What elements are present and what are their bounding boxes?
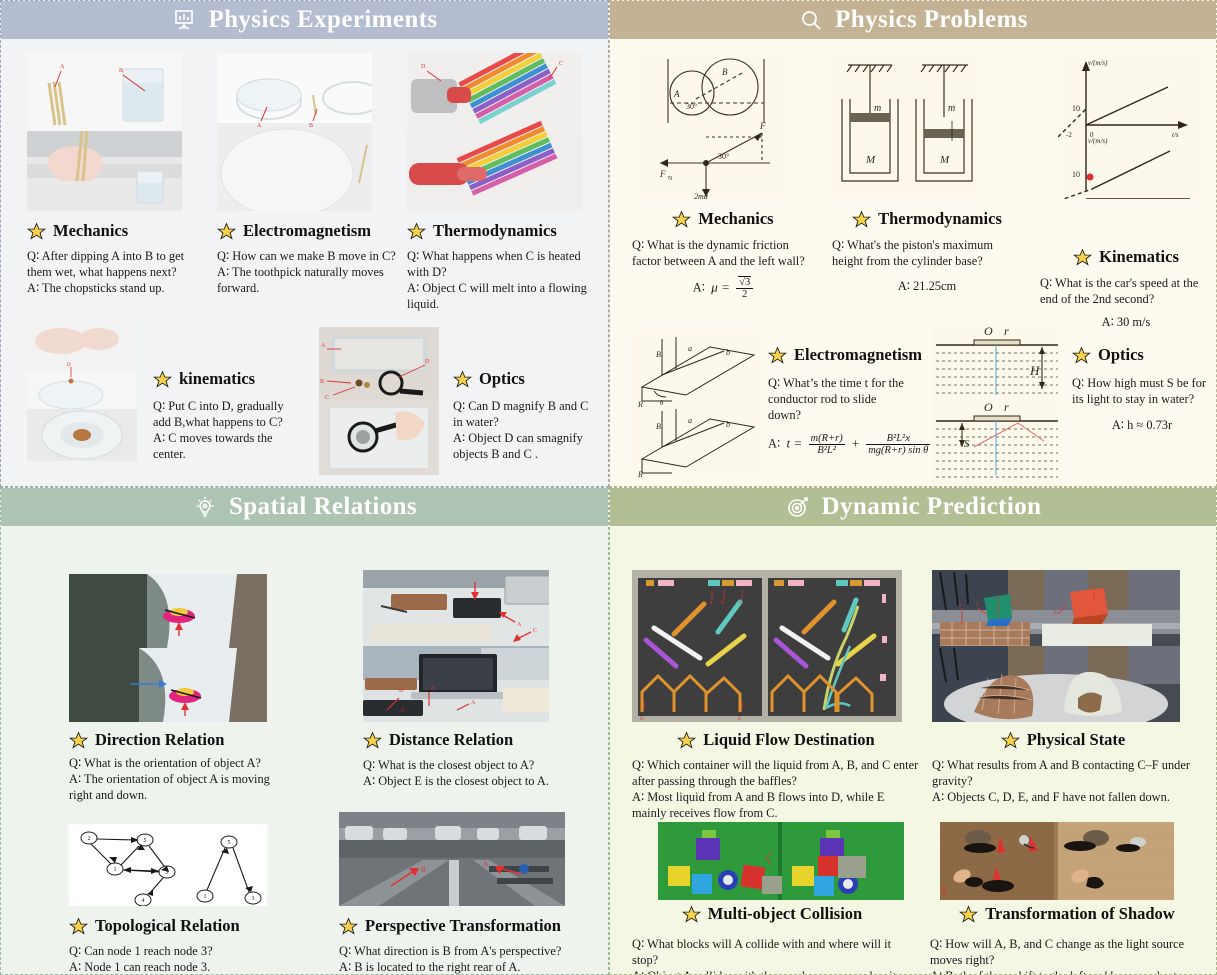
answer-text: A∶ Most liquid from A and B flows into D… — [632, 789, 920, 821]
svg-text:A: A — [60, 64, 65, 70]
card-title-text: Optics — [1098, 345, 1144, 365]
question-text: Q∶ How can we make B move in C? — [217, 248, 397, 264]
question-text: Q∶ What’s the time t for the conductor r… — [768, 375, 908, 423]
card-direction-relation: Direction Relation Q∶ What is the orient… — [69, 730, 279, 803]
svg-text:r: r — [1004, 324, 1009, 338]
svg-text:a: a — [688, 416, 692, 425]
svg-text:A: A — [517, 622, 522, 628]
card-multi-object-collision: Multi-object Collision Q∶ What blocks wi… — [632, 904, 912, 975]
card-perspective-transformation: Perspective Transformation Q∶ What direc… — [339, 916, 607, 975]
card-title: Physical State — [932, 730, 1194, 750]
answer-prefix: A∶ — [693, 281, 705, 295]
svg-text:30°: 30° — [686, 102, 697, 111]
star-icon — [682, 905, 701, 924]
svg-text:B: B — [722, 67, 728, 77]
star-icon — [677, 731, 696, 750]
card-title-text: Distance Relation — [389, 730, 513, 750]
question-text: Q∶ What happens when C is heated with D? — [407, 248, 587, 280]
quadrant-dynamic-prediction: Dynamic Prediction — [609, 487, 1217, 975]
quadrant-body: A C B C — [1, 526, 608, 974]
card-title: Mechanics — [27, 221, 203, 241]
card-title: Perspective Transformation — [339, 916, 607, 936]
svg-text:2: 2 — [88, 836, 91, 842]
star-icon — [339, 917, 358, 936]
svg-text:M: M — [939, 154, 950, 166]
lightbulb-idea-icon — [192, 494, 218, 520]
question-text: Q∶ What is the dynamic friction factor b… — [632, 237, 814, 269]
objects-shadow-photo: A — [940, 822, 1174, 900]
svg-text:1: 1 — [204, 894, 207, 900]
svg-text:10: 10 — [1072, 170, 1080, 179]
svg-text:F: F — [1092, 587, 1095, 592]
card-title-text: Mechanics — [53, 221, 128, 241]
svg-text:D: D — [996, 597, 1000, 602]
card-title-text: Electromagnetism — [794, 345, 922, 365]
answer-text: A∶ 30 m/s — [1102, 315, 1151, 329]
card-title-text: Physical State — [1027, 730, 1126, 750]
card-title-text: Direction Relation — [95, 730, 224, 750]
svg-text:O: O — [984, 324, 993, 338]
card-title: Mechanics — [632, 209, 814, 229]
piston-cylinder-diagram: m m M M — [826, 51, 982, 199]
fraction-term-1: m(R+r)B²L² — [809, 433, 845, 456]
answer-text: A∶ h ≈ 0.73r — [1112, 418, 1172, 432]
card-optics: Optics Q∶ Can D magnify B and C in water… — [453, 369, 593, 463]
answer-text: A∶ The toothpick naturally moves forward… — [217, 264, 397, 296]
svg-text:E: E — [1054, 611, 1057, 616]
question-text: Q∶ What is the orientation of object A? — [69, 755, 279, 771]
kayak-in-rapids-photo — [69, 574, 267, 722]
svg-text:3: 3 — [166, 870, 169, 876]
light-source-under-water-diagram: H O r S O r — [932, 323, 1062, 485]
card-optics: Optics Q∶ How high must S be for its lig… — [1072, 345, 1212, 433]
card-title-text: Topological Relation — [95, 916, 240, 936]
answer-formula: A∶ μ = √3 2 — [632, 277, 814, 300]
star-icon — [453, 370, 472, 389]
card-title-text: Electromagnetism — [243, 221, 371, 241]
card-distance-relation: Distance Relation Q∶ What is the closest… — [363, 730, 599, 789]
question-text: Q∶ How high must S be for its light to s… — [1072, 375, 1212, 407]
svg-text:-2: -2 — [1066, 131, 1072, 139]
svg-text:D: D — [425, 359, 430, 365]
banner-physics-problems: Physics Problems — [610, 1, 1216, 39]
card-kinematics: Kinematics Q∶ What is the car's speed at… — [1040, 247, 1212, 330]
svg-text:m: m — [948, 103, 955, 114]
svg-text:A: A — [709, 601, 713, 606]
svg-text:B: B — [119, 68, 123, 74]
banner-title: Dynamic Prediction — [822, 493, 1042, 521]
svg-text:b: b — [726, 348, 730, 357]
question-text: Q∶ What blocks will A collide with and w… — [632, 936, 912, 968]
svg-text:S: S — [964, 438, 970, 450]
svg-text:R: R — [637, 400, 643, 409]
question-text: Q∶ What results from A and B contacting … — [932, 757, 1194, 789]
card-title: Direction Relation — [69, 730, 279, 750]
card-title-text: Thermodynamics — [433, 221, 557, 241]
banner-title: Spatial Relations — [229, 493, 417, 521]
svg-text:C: C — [559, 61, 563, 67]
star-icon — [959, 905, 978, 924]
velocity-time-graph-diagram: v/(m/s) v/(m/s) 10 10 -2 0 t/s — [1058, 51, 1206, 199]
svg-text:D: D — [421, 64, 426, 70]
fraction-sqrt3-over-2: √3 2 — [736, 277, 753, 300]
answer-text: A∶ Both of them shift to the left and be… — [930, 968, 1204, 975]
svg-text:B: B — [399, 688, 403, 694]
star-icon — [672, 210, 691, 229]
svg-text:A: A — [321, 343, 326, 349]
svg-text:R: R — [637, 470, 643, 477]
star-icon — [69, 917, 88, 936]
quadrant-physics-problems: Physics Problems A B 30° — [609, 0, 1217, 487]
star-icon — [153, 370, 172, 389]
svg-text:B: B — [656, 350, 661, 359]
banner-title: Physics Problems — [835, 6, 1028, 34]
question-text: Q∶ What is the car's speed at the end of… — [1040, 275, 1212, 307]
card-title: Optics — [453, 369, 593, 389]
svg-text:30°: 30° — [718, 152, 729, 161]
svg-text:A: A — [673, 89, 680, 99]
card-kinematics: kinematics Q∶ Put C into D, gradually ad… — [153, 369, 303, 463]
answer-text: A∶ The chopsticks stand up. — [27, 280, 203, 296]
magnifier-in-water-tray-photo: A B C D — [319, 327, 439, 475]
svg-text:C: C — [401, 708, 405, 714]
card-title: Thermodynamics — [832, 209, 1022, 229]
svg-text:0: 0 — [1090, 131, 1094, 139]
crayons-melting-photo: D C — [407, 53, 582, 211]
card-title: Thermodynamics — [407, 221, 587, 241]
svg-text:4: 4 — [142, 898, 145, 904]
cloth-draping-simulation: A C D E F — [932, 570, 1180, 722]
card-physical-state: Physical State Q∶ What results from A an… — [932, 730, 1194, 805]
svg-text:10: 10 — [1072, 104, 1080, 113]
card-title-text: Kinematics — [1099, 247, 1179, 267]
card-title-text: Optics — [479, 369, 525, 389]
card-title: kinematics — [153, 369, 303, 389]
question-text: Q∶ Put C into D, gradually add B,what ha… — [153, 398, 303, 430]
svg-text:m: m — [874, 103, 881, 114]
svg-text:5: 5 — [228, 840, 231, 846]
star-icon — [1001, 731, 1020, 750]
question-text: Q∶ What's the piston's maximum height fr… — [832, 237, 1022, 269]
question-text: Q∶ What direction is B from A's perspect… — [339, 943, 607, 959]
svg-text:a: a — [688, 344, 692, 353]
svg-text:A: A — [941, 884, 946, 890]
banner-physics-experiments: Physics Experiments — [1, 1, 608, 39]
card-title: Electromagnetism — [768, 345, 932, 365]
quadrant-physics-experiments: Physics Experiments — [0, 0, 609, 487]
card-title-text: Transformation of Shadow — [985, 904, 1174, 924]
star-icon — [768, 346, 787, 365]
answer-text: A∶ 21.25cm — [898, 279, 956, 293]
svg-text:C: C — [325, 395, 329, 401]
search-icon — [798, 7, 824, 33]
answer-text: A∶ C moves towards the center. — [153, 430, 303, 462]
svg-text:F: F — [759, 121, 766, 131]
star-icon — [217, 222, 236, 241]
card-title-text: Liquid Flow Destination — [703, 730, 874, 750]
svg-text:H: H — [1029, 363, 1040, 378]
quadrant-body: A B 30° F F N — [610, 39, 1216, 486]
svg-text:r: r — [1004, 400, 1009, 414]
svg-text:1: 1 — [114, 867, 117, 873]
quadrant-spatial-relations: Spatial Relations — [0, 487, 609, 975]
card-title: Electromagnetism — [217, 221, 397, 241]
star-icon — [1072, 346, 1091, 365]
card-mechanics: Mechanics Q∶ After dipping A into B to g… — [27, 221, 203, 296]
card-title-text: Mechanics — [698, 209, 773, 229]
star-icon — [407, 222, 426, 241]
question-text: Q∶ What is the closest object to A? — [363, 757, 599, 773]
card-electromagnetism: Electromagnetism Q∶ What’s the time t fo… — [768, 345, 932, 456]
svg-text:E: E — [431, 686, 435, 692]
card-title: Distance Relation — [363, 730, 599, 750]
card-title-text: Perspective Transformation — [365, 916, 561, 936]
svg-text:A: A — [958, 603, 962, 608]
svg-text:F: F — [659, 169, 666, 179]
inclined-rails-conductor-rod-diagram: B a b R θ B a b R — [632, 329, 762, 477]
question-text: Q∶ Can node 1 reach node 3? — [69, 943, 299, 959]
question-text: Q∶ Can D magnify B and C in water? — [453, 398, 593, 430]
card-title: Topological Relation — [69, 916, 299, 936]
answer-text: A∶ The orientation of object A is moving… — [69, 771, 279, 803]
desk-with-laptop-photo: A C B C — [363, 570, 549, 722]
chart-presentation-icon — [171, 7, 197, 33]
street-traffic-photo: B A — [339, 812, 565, 906]
answer-text: A∶ Object D can smagnify objects B and C… — [453, 430, 593, 462]
svg-text:B: B — [309, 123, 313, 129]
answer-text: A∶ Object C will melt into a flowing liq… — [407, 280, 587, 312]
svg-text:3: 3 — [252, 896, 255, 902]
answer-text: A∶ Node 1 can reach node 3. — [69, 959, 299, 975]
svg-text:D: D — [640, 717, 644, 722]
card-title: Liquid Flow Destination — [632, 730, 920, 750]
svg-text:t/s: t/s — [1172, 131, 1179, 139]
svg-text:D: D — [67, 363, 71, 368]
svg-text:B: B — [421, 866, 426, 874]
quadrant-body: A B C D E — [610, 526, 1216, 974]
svg-text:A: A — [768, 852, 773, 858]
svg-text:B: B — [656, 422, 661, 431]
card-thermodynamics: Thermodynamics Q∶ What's the piston's ma… — [832, 209, 1022, 294]
card-transformation-of-shadow: Transformation of Shadow Q∶ How will A, … — [930, 904, 1204, 975]
card-mechanics: Mechanics Q∶ What is the dynamic frictio… — [632, 209, 814, 300]
answer-text: A∶ Object E is the closest object to A. — [363, 773, 599, 789]
card-liquid-flow-destination: Liquid Flow Destination Q∶ Which contain… — [632, 730, 920, 822]
svg-text:A: A — [257, 123, 262, 129]
card-title-text: Thermodynamics — [878, 209, 1002, 229]
card-topological-relation: Topological Relation Q∶ Can node 1 reach… — [69, 916, 299, 975]
star-icon — [363, 731, 382, 750]
question-text: Q∶ After dipping A into B to get them we… — [27, 248, 203, 280]
star-icon — [27, 222, 46, 241]
answer-formula: A∶ t = m(R+r)B²L² + B²L²xmg(R+r) sin θ — [768, 433, 932, 456]
svg-text:O: O — [984, 400, 993, 414]
card-title: Multi-object Collision — [632, 904, 912, 924]
card-title-text: Multi-object Collision — [708, 904, 862, 924]
card-electromagnetism: Electromagnetism Q∶ How can we make B mo… — [217, 221, 397, 296]
svg-text:E: E — [738, 717, 741, 722]
answer-text: A∶ Object A collides with the purple squ… — [632, 968, 912, 975]
svg-text:C: C — [533, 628, 537, 634]
liquid-baffles-simulation: A B C D E — [632, 570, 902, 722]
svg-text:A: A — [483, 860, 488, 868]
answer-text: A∶ Objects C, D, E, and F have not falle… — [932, 789, 1194, 805]
card-thermodynamics: Thermodynamics Q∶ What happens when C is… — [407, 221, 587, 313]
answer-text: A∶ B is located to the right rear of A. — [339, 959, 607, 975]
star-icon — [69, 731, 88, 750]
card-title: Transformation of Shadow — [930, 904, 1204, 924]
card-title: Kinematics — [1040, 247, 1212, 267]
svg-text:M: M — [865, 154, 876, 166]
card-title: Optics — [1072, 345, 1212, 365]
question-text: Q∶ How will A, B, and C change as the li… — [930, 936, 1204, 968]
target-dart-icon — [785, 494, 811, 520]
svg-text:N: N — [668, 176, 673, 182]
svg-text:A: A — [471, 700, 476, 706]
banner-dynamic-prediction: Dynamic Prediction — [610, 488, 1216, 526]
svg-text:B: B — [320, 379, 324, 385]
star-icon — [852, 210, 871, 229]
banner-title: Physics Experiments — [208, 6, 437, 34]
quadrant-body: A B A — [1, 39, 608, 486]
bowl-of-water-with-cork-photo: D — [27, 319, 137, 461]
chopsticks-and-water-glass-photo: A B — [27, 53, 182, 211]
question-text: Q∶ Which container will the liquid from … — [632, 757, 920, 789]
blocks-collision-photo: A — [658, 822, 904, 900]
svg-text:v/(m/s): v/(m/s) — [1088, 59, 1108, 67]
answer-prefix: A∶ — [768, 437, 780, 451]
poster-grid: Physics Experiments — [0, 0, 1217, 975]
fraction-term-2: B²L²xmg(R+r) sin θ — [866, 433, 930, 456]
svg-text:5: 5 — [144, 838, 147, 844]
svg-text:b: b — [726, 420, 730, 429]
banner-spatial-relations: Spatial Relations — [1, 488, 608, 526]
svg-text:2mg: 2mg — [694, 192, 708, 199]
card-title-text: kinematics — [179, 369, 255, 389]
directed-graph-nodes-diagram: 251 34 513 — [69, 824, 267, 906]
star-icon — [1073, 248, 1092, 267]
glass-dish-with-toothpick-photo: A B — [217, 53, 372, 211]
cylinders-between-walls-diagram: A B 30° F F N — [638, 51, 790, 199]
